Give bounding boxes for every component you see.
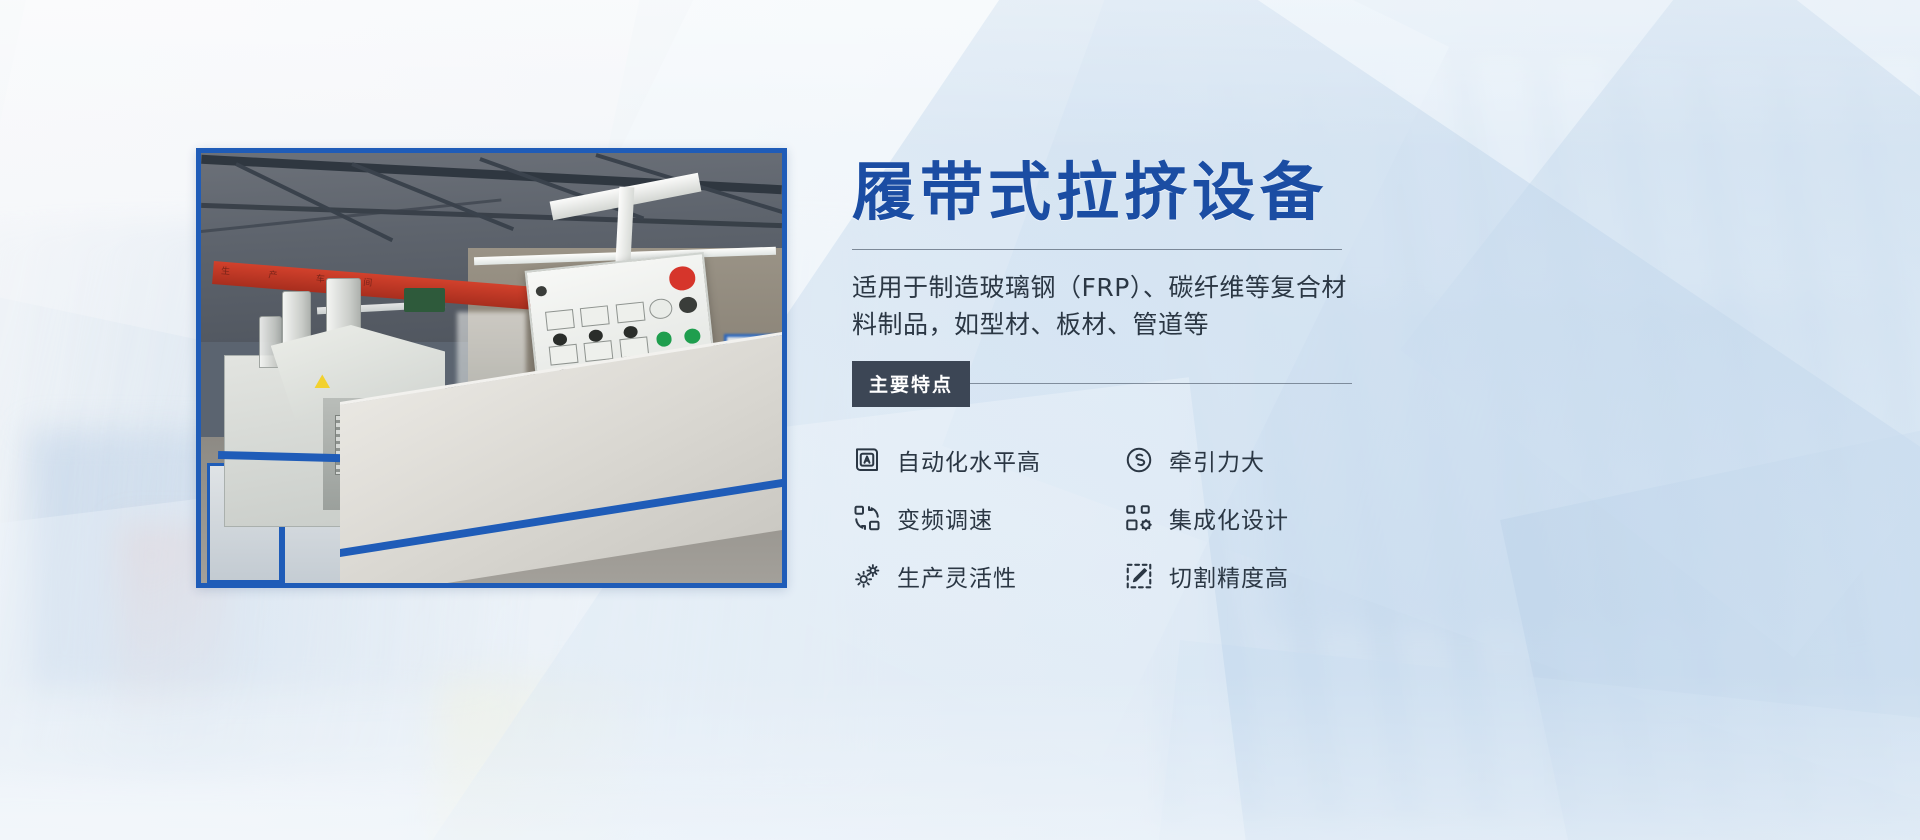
badge-divider [970, 383, 1352, 384]
feature-item-automation[interactable]: 自动化水平高 [852, 443, 1124, 477]
precision-pen-dashed-icon [1124, 561, 1154, 591]
product-banner: 生 产 车 间 [0, 0, 1920, 840]
feature-item-flexibility[interactable]: 生产灵活性 [852, 559, 1124, 593]
letter-a-in-box-icon [852, 445, 882, 475]
description-line-1: 适用于制造玻璃钢（FRP）、碳纤维等复合材 [852, 269, 1352, 306]
feature-list: 自动化水平高 牵引力大 [852, 443, 1352, 593]
feature-label: 集成化设计 [1169, 501, 1289, 535]
gears-icon [852, 561, 882, 591]
frequency-nodes-icon [852, 503, 882, 533]
feature-item-integration[interactable]: 集成化设计 [1124, 501, 1352, 535]
status-badge: 主要特点 [852, 361, 970, 407]
feature-label: 自动化水平高 [897, 443, 1041, 477]
features-heading-row: 主要特点 [852, 361, 1352, 407]
feature-item-traction[interactable]: 牵引力大 [1124, 443, 1352, 477]
feature-label: 切割精度高 [1169, 559, 1289, 593]
product-photo: 生 产 车 间 [201, 153, 782, 583]
title-divider [852, 249, 1342, 250]
banner-content: 履带式拉挤设备 适用于制造玻璃钢（FRP）、碳纤维等复合材 料制品，如型材、板材… [852, 160, 1352, 593]
photo-crane-hoist [404, 288, 445, 312]
feature-item-frequency[interactable]: 变频调速 [852, 501, 1124, 535]
feature-label: 变频调速 [897, 501, 993, 535]
product-photo-frame: 生 产 车 间 [196, 148, 787, 588]
product-description: 适用于制造玻璃钢（FRP）、碳纤维等复合材 料制品，如型材、板材、管道等 [852, 269, 1352, 343]
feature-label: 生产灵活性 [897, 559, 1017, 593]
traction-waves-circle-icon [1124, 445, 1154, 475]
page-title: 履带式拉挤设备 [852, 160, 1352, 227]
description-line-2: 料制品，如型材、板材、管道等 [852, 306, 1352, 343]
feature-item-cutting-precision[interactable]: 切割精度高 [1124, 559, 1352, 593]
integration-hierarchy-icon [1124, 503, 1154, 533]
feature-label: 牵引力大 [1169, 443, 1265, 477]
